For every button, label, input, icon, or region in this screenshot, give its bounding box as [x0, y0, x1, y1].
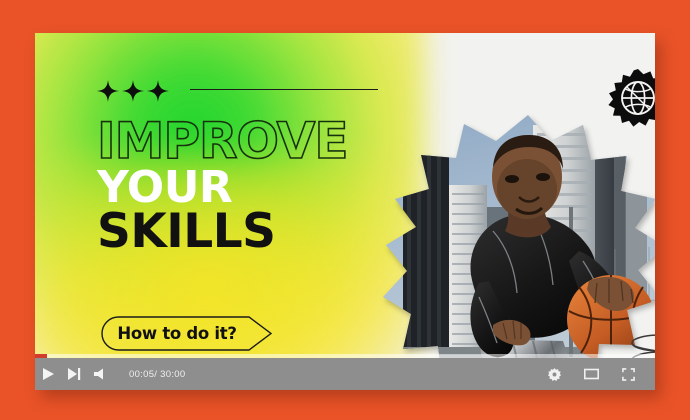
rectangle-icon — [584, 368, 599, 380]
decor-rule — [190, 89, 378, 90]
star-filled-icon — [147, 80, 169, 102]
how-to-do-it-button[interactable]: How to do it? — [101, 316, 273, 351]
headline-line-2: YOUR — [97, 168, 348, 208]
skip-next-icon — [67, 367, 81, 381]
theater-button[interactable] — [578, 361, 604, 387]
headline-line-1: IMPROVE — [97, 118, 348, 164]
globe-badge — [608, 69, 655, 129]
player-right-controls — [531, 361, 641, 387]
progress-bar-track[interactable] — [35, 354, 655, 358]
fullscreen-button[interactable] — [615, 361, 641, 387]
headline-line-3: SKILLS — [97, 210, 348, 253]
star-filled-icon — [122, 80, 144, 102]
video-player-bar: 00:05/ 30:00 — [35, 358, 655, 390]
volume-button[interactable] — [87, 361, 113, 387]
play-icon — [42, 367, 55, 381]
video-card: IMPROVE YOUR SKILLS How to do it? — [35, 33, 655, 390]
volume-icon — [93, 367, 107, 381]
settings-button[interactable] — [541, 361, 567, 387]
play-button[interactable] — [35, 361, 61, 387]
fullscreen-icon — [622, 368, 635, 381]
cta-label: How to do it? — [101, 316, 253, 351]
headline-group: IMPROVE YOUR SKILLS — [97, 118, 348, 254]
gear-icon — [548, 368, 561, 381]
progress-bar-fill — [35, 354, 47, 358]
star-filled-icon — [97, 80, 119, 102]
hero-photo-image — [383, 111, 655, 390]
time-display: 00:05/ 30:00 — [129, 369, 185, 380]
decor-stars-top — [97, 80, 169, 102]
hero-photo — [383, 111, 655, 390]
screenshot-root: IMPROVE YOUR SKILLS How to do it? — [0, 0, 690, 420]
next-button[interactable] — [61, 361, 87, 387]
globe-icon — [608, 69, 655, 129]
